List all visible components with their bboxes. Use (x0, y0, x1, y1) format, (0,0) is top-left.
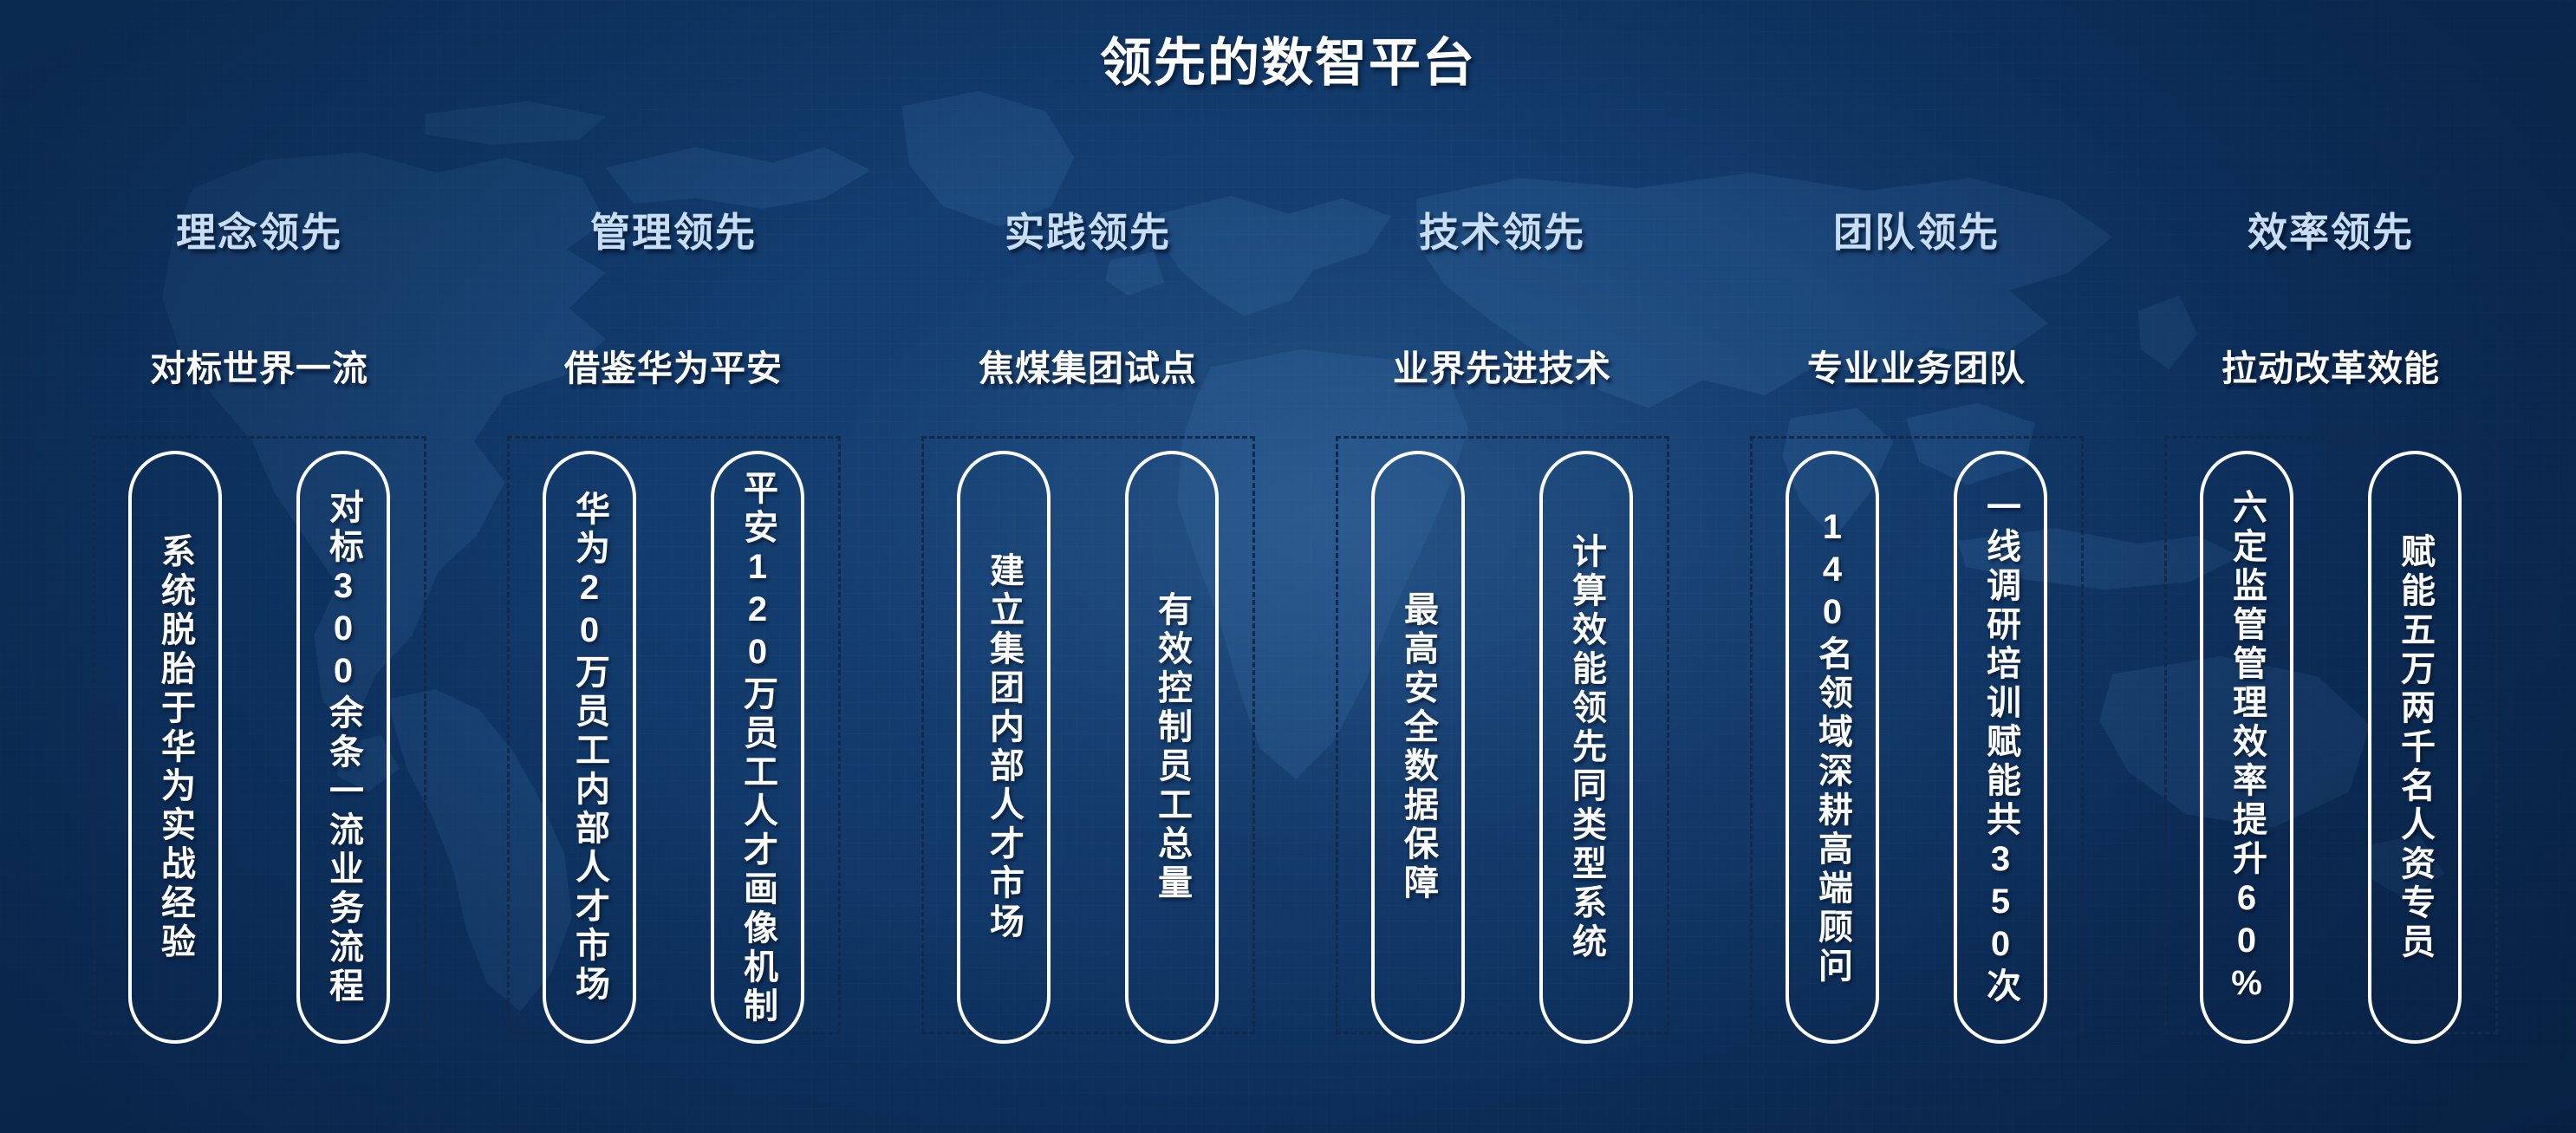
column-subheading: 专业业务团队 (1807, 351, 2026, 391)
feature-pill[interactable]: 系统脱胎于华为实战经验 (128, 451, 222, 1044)
feature-pill[interactable]: 对标300余条一流业务流程 (296, 451, 390, 1044)
pill-row: 华为20万员工内部人才市场 平安120万员工人才画像机制 (510, 451, 838, 1044)
column-heading: 效率领先 (2247, 212, 2414, 257)
feature-pill[interactable]: 赋能五万两千名人资专员 (2368, 451, 2462, 1044)
column-heading: 技术领先 (1419, 212, 1585, 257)
feature-column: 效率领先 拉动改革效能 六定监管管理效率提升60% 赋能五万两千名人资专员 (2124, 212, 2538, 1034)
pill-label: 赋能五万两千名人资专员 (2397, 533, 2432, 962)
pill-label: 建立集团内部人才市场 (986, 552, 1021, 942)
feature-pill[interactable]: 一线调研培训赋能共350次 (1954, 451, 2047, 1044)
feature-column: 理念领先 对标世界一流 系统脱胎于华为实战经验 对标300余条一流业务流程 (52, 212, 466, 1034)
feature-pill[interactable]: 六定监管管理效率提升60% (2200, 451, 2293, 1044)
feature-pill[interactable]: 140名领域深耕高端顾问 (1786, 451, 1879, 1044)
pill-label: 对标300余条一流业务流程 (326, 489, 361, 1006)
column-subheading: 拉动改革效能 (2221, 351, 2440, 391)
column-heading: 实践领先 (1005, 212, 1171, 257)
pill-row: 系统脱胎于华为实战经验 对标300余条一流业务流程 (95, 451, 424, 1044)
column-heading: 理念领先 (176, 212, 342, 257)
slide-canvas: 领先的数智平台 理念领先 对标世界一流 系统脱胎于华为实战经验 对标300余条一… (0, 0, 2576, 1133)
column-subheading: 焦煤集团试点 (979, 351, 1197, 391)
feature-column: 管理领先 借鉴华为平安 华为20万员工内部人才市场 平安120万员工人才画像机制 (466, 212, 881, 1034)
feature-column: 技术领先 业界先进技术 最高安全数据保障 计算效能领先同类型系统 (1295, 212, 1709, 1034)
pill-row: 六定监管管理效率提升60% 赋能五万两千名人资专员 (2167, 451, 2495, 1044)
page-title: 领先的数智平台 (0, 21, 2576, 96)
column-subheading: 业界先进技术 (1393, 351, 1611, 391)
pill-row: 最高安全数据保障 计算效能领先同类型系统 (1338, 451, 1667, 1044)
pill-label: 华为20万员工内部人才市场 (572, 491, 607, 1005)
pill-label: 平安120万员工人才画像机制 (740, 470, 775, 1025)
pill-label: 140名领域深耕高端顾问 (1815, 508, 1850, 986)
pill-group-outline: 六定监管管理效率提升60% 赋能五万两千名人资专员 (2164, 436, 2498, 1034)
feature-columns: 理念领先 对标世界一流 系统脱胎于华为实战经验 对标300余条一流业务流程 管理… (52, 212, 2540, 1034)
feature-column: 团队领先 专业业务团队 140名领域深耕高端顾问 一线调研培训赋能共350次 (1709, 212, 2124, 1034)
feature-pill[interactable]: 计算效能领先同类型系统 (1539, 451, 1633, 1044)
pill-group-outline: 最高安全数据保障 计算效能领先同类型系统 (1336, 436, 1669, 1034)
pill-row: 140名领域深耕高端顾问 一线调研培训赋能共350次 (1753, 451, 2081, 1044)
feature-pill[interactable]: 华为20万员工内部人才市场 (543, 451, 636, 1044)
feature-pill[interactable]: 有效控制员工总量 (1125, 451, 1219, 1044)
column-heading: 管理领先 (590, 212, 757, 257)
feature-pill[interactable]: 建立集团内部人才市场 (957, 451, 1051, 1044)
pill-group-outline: 140名领域深耕高端顾问 一线调研培训赋能共350次 (1750, 436, 2084, 1034)
pill-group-outline: 建立集团内部人才市场 有效控制员工总量 (921, 436, 1255, 1034)
pill-row: 建立集团内部人才市场 有效控制员工总量 (924, 451, 1252, 1044)
feature-pill[interactable]: 最高安全数据保障 (1371, 451, 1465, 1044)
pill-label: 有效控制员工总量 (1155, 591, 1189, 903)
pill-label: 系统脱胎于华为实战经验 (158, 533, 192, 962)
pill-label: 计算效能领先同类型系统 (1569, 533, 1603, 962)
pill-label: 一线调研培训赋能共350次 (1983, 489, 2018, 1006)
pill-label: 最高安全数据保障 (1401, 591, 1435, 903)
column-subheading: 借鉴华为平安 (564, 351, 783, 391)
feature-pill[interactable]: 平安120万员工人才画像机制 (711, 451, 804, 1044)
column-subheading: 对标世界一流 (150, 351, 368, 391)
pill-label: 六定监管管理效率提升60% (2229, 489, 2264, 1006)
pill-group-outline: 华为20万员工内部人才市场 平安120万员工人才画像机制 (507, 436, 841, 1034)
column-heading: 团队领先 (1833, 212, 2000, 257)
pill-group-outline: 系统脱胎于华为实战经验 对标300余条一流业务流程 (93, 436, 426, 1034)
feature-column: 实践领先 焦煤集团试点 建立集团内部人才市场 有效控制员工总量 (881, 212, 1295, 1034)
